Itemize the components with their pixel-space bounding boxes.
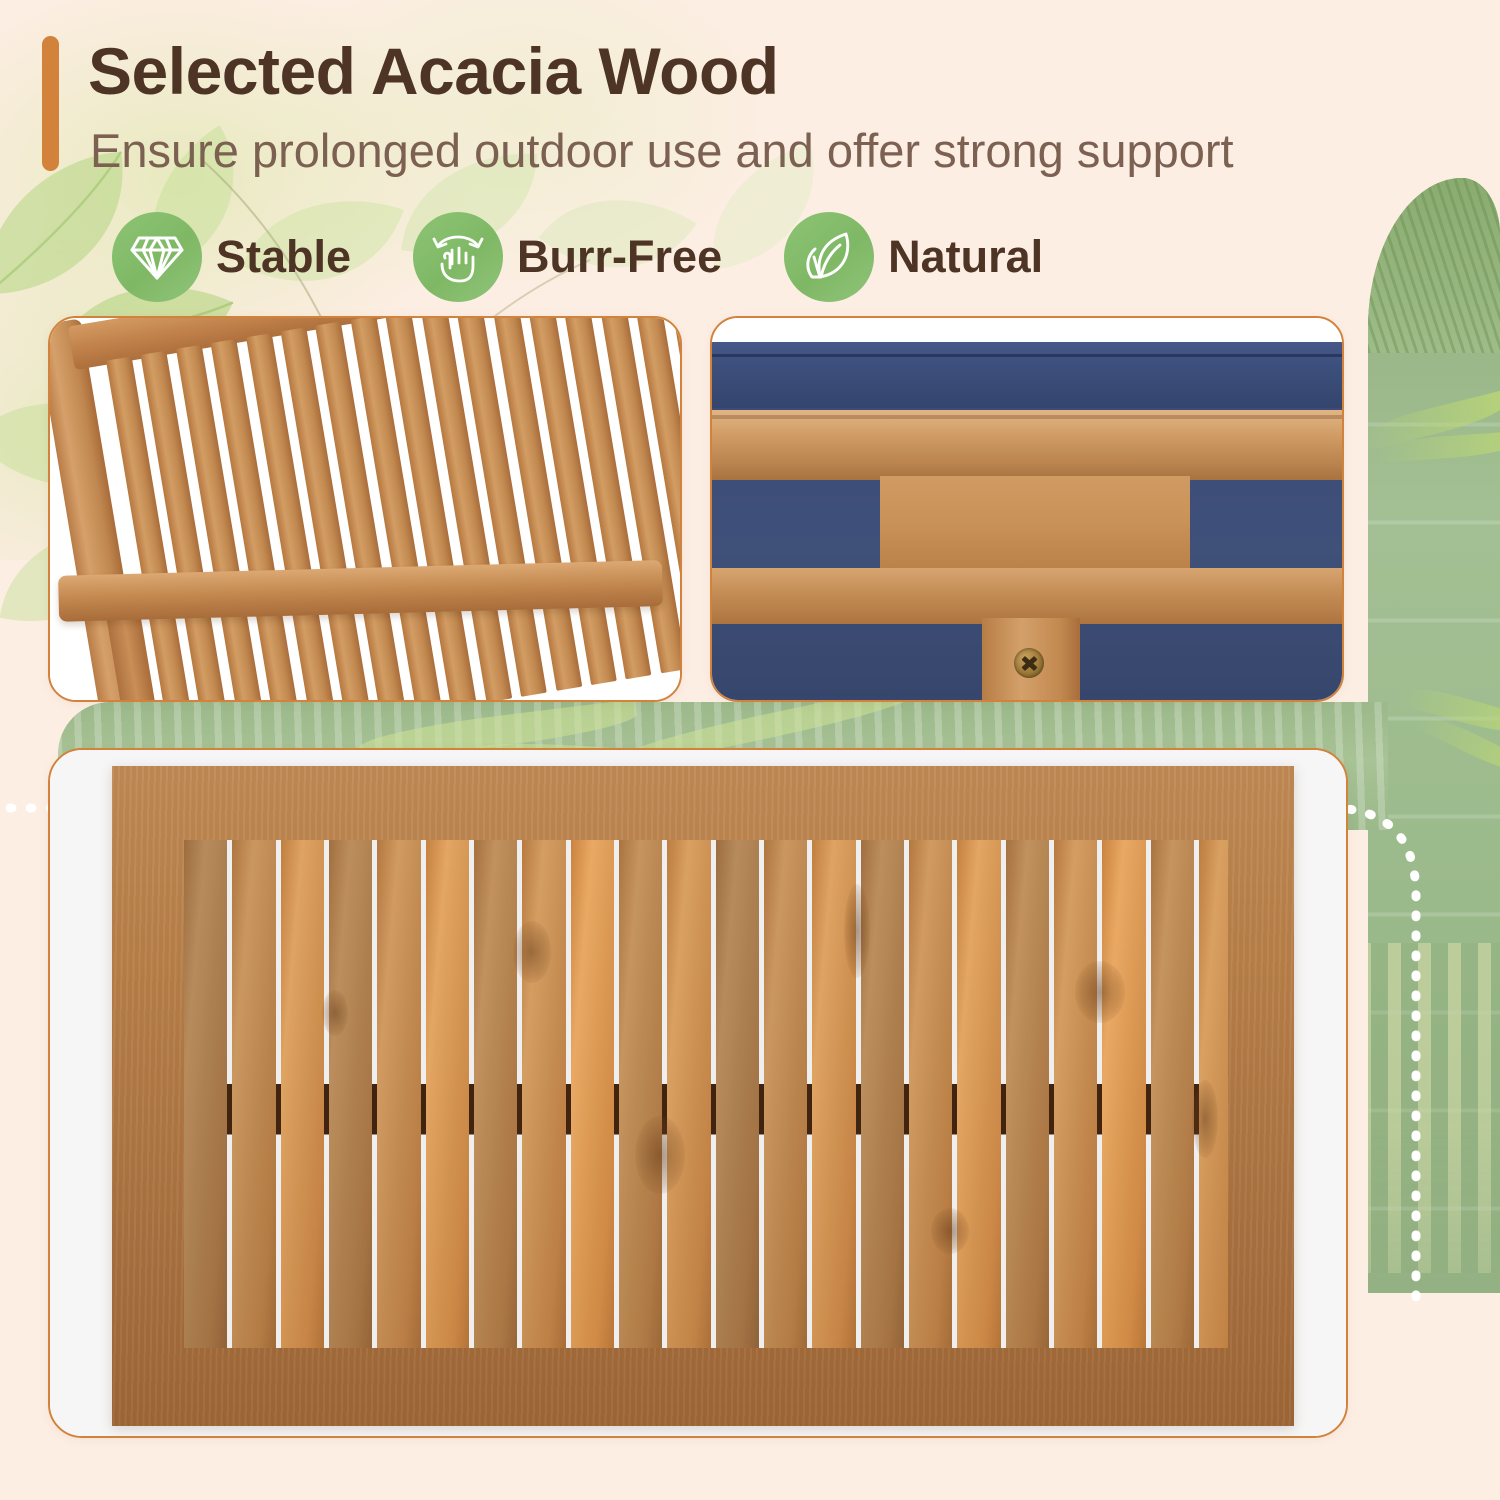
tabletop-slat — [957, 840, 1000, 1348]
bench-slat-group — [100, 318, 680, 700]
tabletop-slat — [667, 840, 710, 1348]
tabletop-slat — [1151, 840, 1194, 1348]
hedge-texture — [1368, 178, 1500, 353]
tabletop-slat — [619, 840, 662, 1348]
bench-photo-canvas — [50, 318, 680, 700]
feature-label: Stable — [216, 231, 351, 283]
tabletop-slat — [377, 840, 420, 1348]
bench-backrest-photo — [50, 318, 680, 700]
navy-cushion-top — [712, 342, 1342, 408]
wood-knot — [322, 990, 348, 1036]
feature-burr-free: Burr-Free — [413, 212, 722, 302]
panel-frame-joint — [710, 316, 1344, 702]
tabletop-slat — [329, 840, 372, 1348]
tabletop-slat — [232, 840, 275, 1348]
wood-bottom-rail — [712, 568, 1342, 624]
panel-bench-backrest — [48, 316, 682, 702]
tabletop-slat — [184, 840, 227, 1348]
garden-chair-silhouette — [1368, 943, 1500, 1273]
diamond-icon — [112, 212, 202, 302]
palm-frond-icon — [1368, 390, 1500, 452]
wood-knot — [931, 1208, 969, 1254]
tabletop-slat — [1054, 840, 1097, 1348]
palm-frond-icon — [1397, 681, 1500, 740]
wood-top-rail — [712, 410, 1342, 480]
tabletop-outer-frame — [112, 766, 1294, 1426]
feature-stable: Stable — [112, 212, 351, 302]
tabletop-slat — [909, 840, 952, 1348]
palm-frond-icon — [1414, 709, 1500, 780]
cushion-seam — [712, 354, 1342, 357]
frame-joint-photo — [712, 318, 1342, 700]
hand-swipe-icon — [413, 212, 503, 302]
wood-joint-block — [880, 476, 1190, 576]
tabletop-photo — [50, 750, 1346, 1436]
tabletop-slat — [1102, 840, 1145, 1348]
wood-knot — [635, 1116, 685, 1194]
background-garden-photo — [1368, 178, 1500, 1293]
promo-image-root: Selected Acacia Wood Ensure prolonged ou… — [0, 0, 1500, 1500]
page-title: Selected Acacia Wood — [88, 33, 779, 109]
wood-knot — [844, 884, 870, 978]
wood-knot — [513, 921, 551, 983]
tabletop-slat — [522, 840, 565, 1348]
feature-label: Natural — [888, 231, 1043, 283]
title-accent-bar — [42, 36, 59, 171]
feature-natural: Natural — [784, 212, 1043, 302]
tabletop-slat — [571, 840, 614, 1348]
brass-screw-icon — [1014, 648, 1044, 678]
deck-floor-texture — [1368, 178, 1500, 1293]
bench-assembly — [50, 318, 680, 700]
tabletop-slat — [281, 840, 324, 1348]
tabletop-slat — [1006, 840, 1049, 1348]
page-subtitle: Ensure prolonged outdoor use and offer s… — [90, 123, 1234, 178]
tabletop-slat — [716, 840, 759, 1348]
joint-photo-canvas — [712, 318, 1342, 700]
wood-knot — [1192, 1080, 1218, 1158]
leaf-icon — [784, 212, 874, 302]
tabletop-slat — [474, 840, 517, 1348]
tabletop-slat — [426, 840, 469, 1348]
panel-slatted-tabletop — [48, 748, 1348, 1438]
tabletop-slat — [764, 840, 807, 1348]
feature-badge-row: Stable Burr-Free — [112, 212, 1043, 302]
feature-label: Burr-Free — [517, 231, 722, 283]
palm-frond-icon — [1377, 431, 1500, 463]
tabletop-photo-canvas — [50, 750, 1346, 1436]
tabletop-slat-field — [184, 840, 1228, 1348]
